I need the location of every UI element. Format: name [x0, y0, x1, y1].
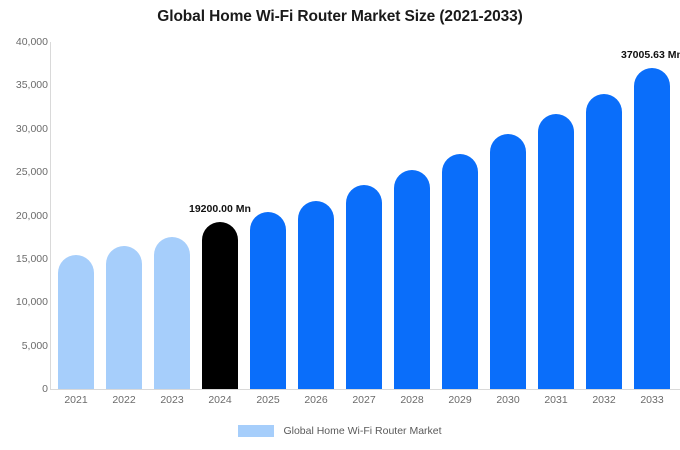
y-axis-tick-label: 0 — [2, 383, 48, 395]
x-axis-tick-label: 2033 — [629, 394, 675, 406]
bar-2028[interactable] — [394, 170, 430, 389]
bar-2022[interactable] — [106, 246, 142, 389]
bar-2023[interactable] — [154, 237, 190, 389]
bar-2032[interactable] — [586, 94, 622, 389]
x-axis-tick-label: 2029 — [437, 394, 483, 406]
bar-2025[interactable] — [250, 212, 286, 389]
chart-legend: Global Home Wi-Fi Router Market — [0, 425, 680, 437]
y-axis-tick-label: 10,000 — [2, 296, 48, 308]
bar-2030[interactable] — [490, 134, 526, 389]
bar-chart: Global Home Wi-Fi Router Market Size (20… — [0, 0, 680, 450]
y-axis-tick-labels: 40,00035,00030,00025,00020,00015,00010,0… — [0, 0, 48, 450]
x-axis-tick-label: 2026 — [293, 394, 339, 406]
x-axis-tick-label: 2031 — [533, 394, 579, 406]
bar-2031[interactable] — [538, 114, 574, 389]
data-label-2033: 37005.63 Mn — [621, 49, 680, 61]
chart-title: Global Home Wi-Fi Router Market Size (20… — [0, 8, 680, 26]
x-axis-tick-label: 2025 — [245, 394, 291, 406]
bar-2021[interactable] — [58, 255, 94, 389]
y-axis-tick-label: 5,000 — [2, 340, 48, 352]
legend-item[interactable]: Global Home Wi-Fi Router Market — [238, 425, 441, 437]
y-axis-tick-label: 20,000 — [2, 210, 48, 222]
x-axis-tick-label: 2021 — [53, 394, 99, 406]
x-axis-tick-label: 2030 — [485, 394, 531, 406]
x-axis-tick-label: 2023 — [149, 394, 195, 406]
x-axis-tick-label: 2024 — [197, 394, 243, 406]
bar-2033[interactable] — [634, 68, 670, 389]
x-axis-tick-label: 2028 — [389, 394, 435, 406]
bar-2024[interactable] — [202, 222, 238, 389]
y-axis-tick-label: 15,000 — [2, 253, 48, 265]
y-axis-tick-label: 35,000 — [2, 79, 48, 91]
x-axis-line — [50, 389, 680, 390]
x-axis-tick-label: 2027 — [341, 394, 387, 406]
legend-item-label: Global Home Wi-Fi Router Market — [283, 425, 441, 437]
bars-layer — [58, 42, 680, 389]
x-axis-tick-label: 2032 — [581, 394, 627, 406]
y-axis-tick-label: 30,000 — [2, 123, 48, 135]
y-axis-tick-label: 40,000 — [2, 36, 48, 48]
y-axis-tick-label: 25,000 — [2, 166, 48, 178]
bar-2027[interactable] — [346, 185, 382, 389]
bar-2026[interactable] — [298, 201, 334, 389]
y-axis-line — [50, 42, 51, 390]
data-label-2024: 19200.00 Mn — [189, 203, 251, 215]
x-axis-tick-label: 2022 — [101, 394, 147, 406]
legend-swatch-icon — [238, 425, 274, 437]
bar-2029[interactable] — [442, 154, 478, 389]
